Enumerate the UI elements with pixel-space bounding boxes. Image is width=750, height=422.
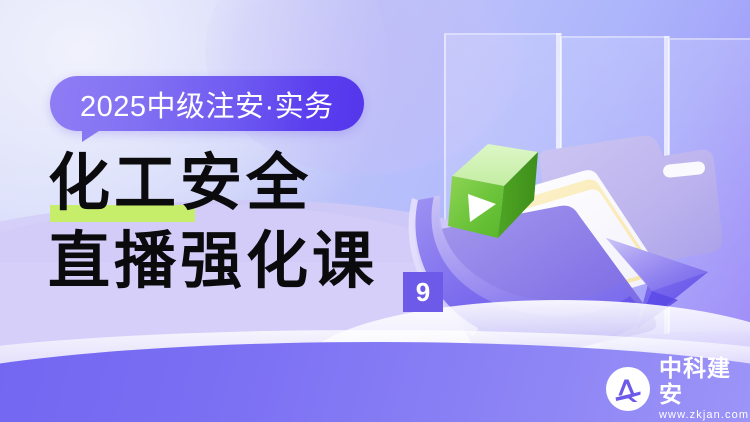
mountain-person-logo-icon (606, 367, 650, 411)
headline-line1-row: 化工安全 (48, 150, 378, 218)
headline-line2-row: 直播强化课 (48, 218, 378, 296)
episode-number-badge: 9 (403, 272, 443, 312)
course-category-pill: 2025中级注安·实务 (50, 76, 364, 131)
logo-website-url: www.zkjan.com (659, 408, 750, 422)
pill-tail-icon (82, 129, 102, 142)
pill-body: 2025中级注安·实务 (50, 76, 364, 131)
course-banner: 2025中级注安·实务 化工安全 直播强化课 9 中科建安 www.zkjan.… (0, 0, 750, 422)
headline-line1: 化工安全 (48, 150, 312, 218)
logo-text-block: 中科建安 www.zkjan.com (659, 355, 750, 422)
headline-line2: 直播强化课 (48, 228, 378, 296)
brand-logo[interactable]: 中科建安 www.zkjan.com (606, 355, 750, 422)
headline-block: 化工安全 直播强化课 9 (48, 150, 378, 296)
pill-label: 2025中级注安·实务 (80, 83, 334, 125)
logo-company-name: 中科建安 (659, 355, 750, 407)
episode-number-label: 9 (416, 279, 430, 305)
